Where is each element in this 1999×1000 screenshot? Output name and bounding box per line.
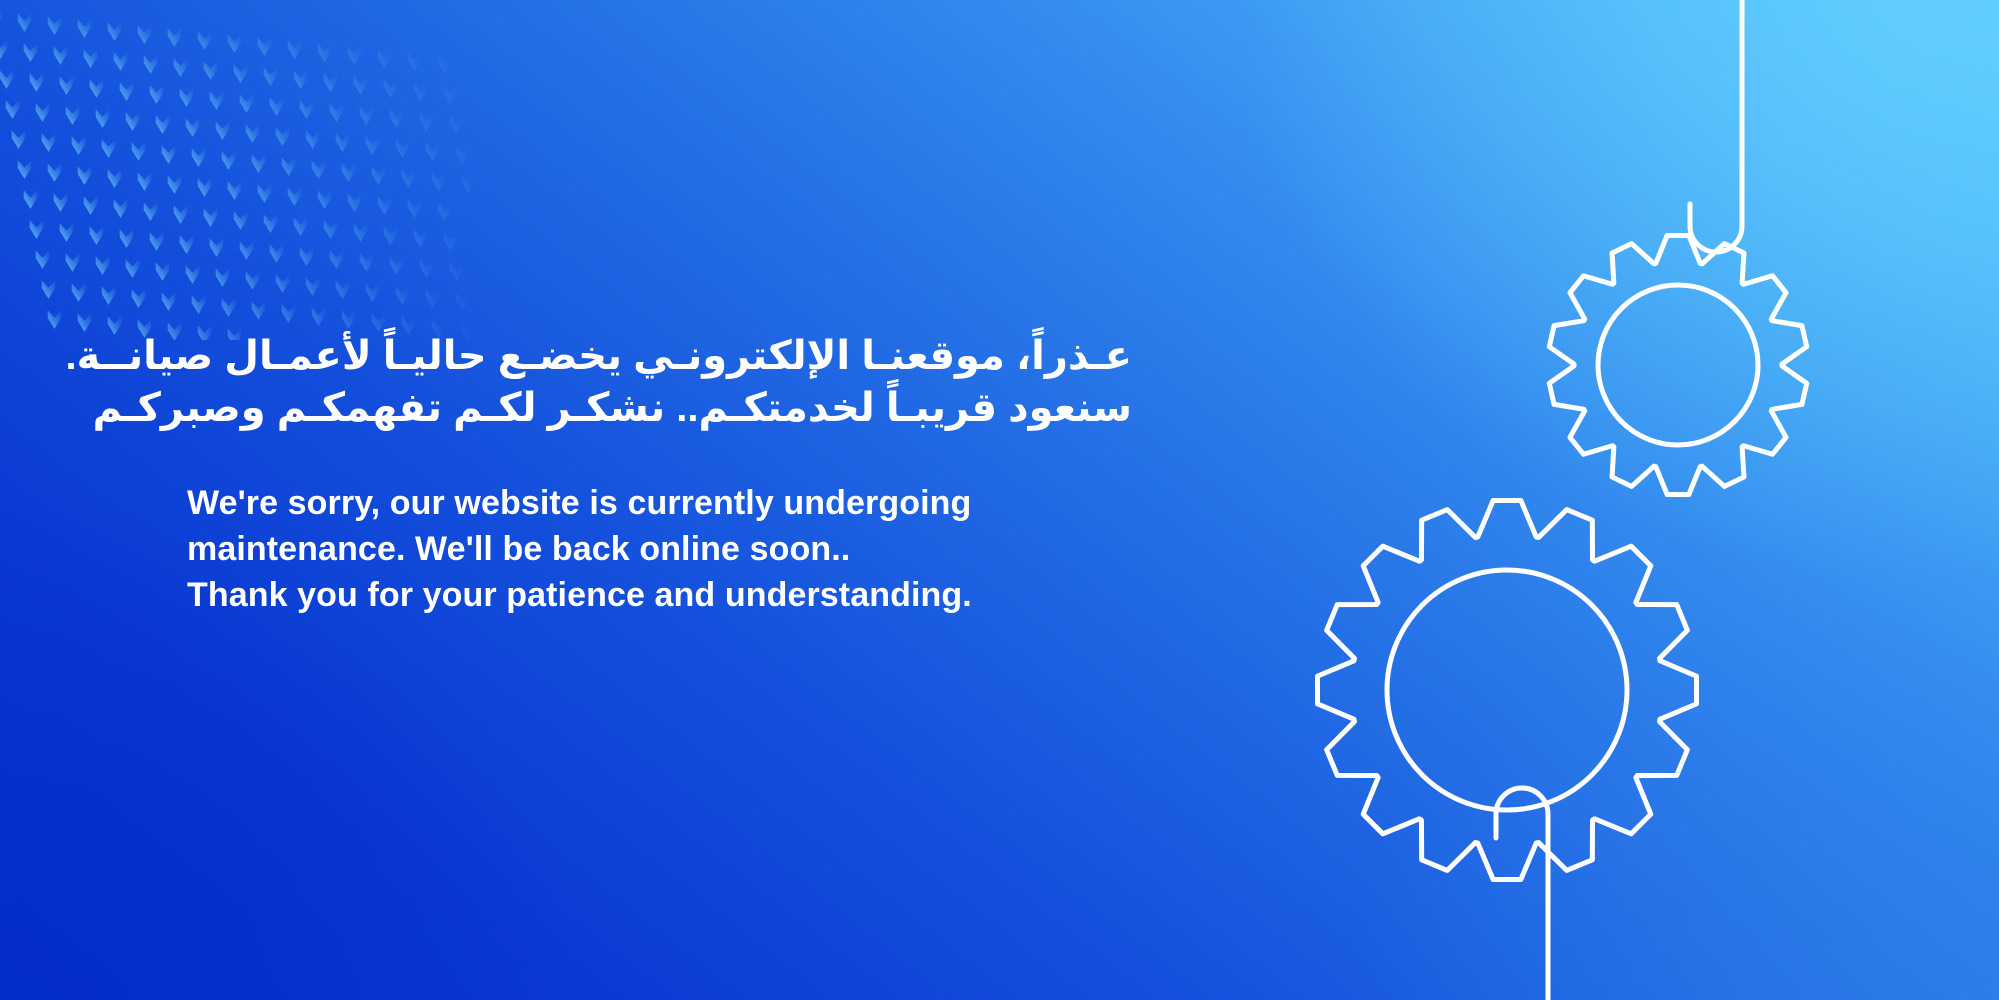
arabic-message: عـذراً، موقعنـا الإلكترونـي يخضـع حاليـا… — [187, 330, 1132, 434]
arabic-message-line-2: سنعود قريبـاً لخدمتكـم.. نشكـر لكـم تفهم… — [187, 382, 1132, 434]
english-message-line-2: maintenance. We'll be back online soon.. — [187, 526, 1187, 572]
maintenance-message: عـذراً، موقعنـا الإلكترونـي يخضـع حاليـا… — [187, 330, 1187, 619]
english-message-line-1: We're sorry, our website is currently un… — [187, 480, 1187, 526]
english-message: We're sorry, our website is currently un… — [187, 480, 1187, 619]
maintenance-page: عـذراً، موقعنـا الإلكترونـي يخضـع حاليـا… — [0, 0, 1999, 1000]
arabic-message-line-1: عـذراً، موقعنـا الإلكترونـي يخضـع حاليـا… — [187, 330, 1132, 382]
english-message-line-3: Thank you for your patience and understa… — [187, 572, 1187, 618]
